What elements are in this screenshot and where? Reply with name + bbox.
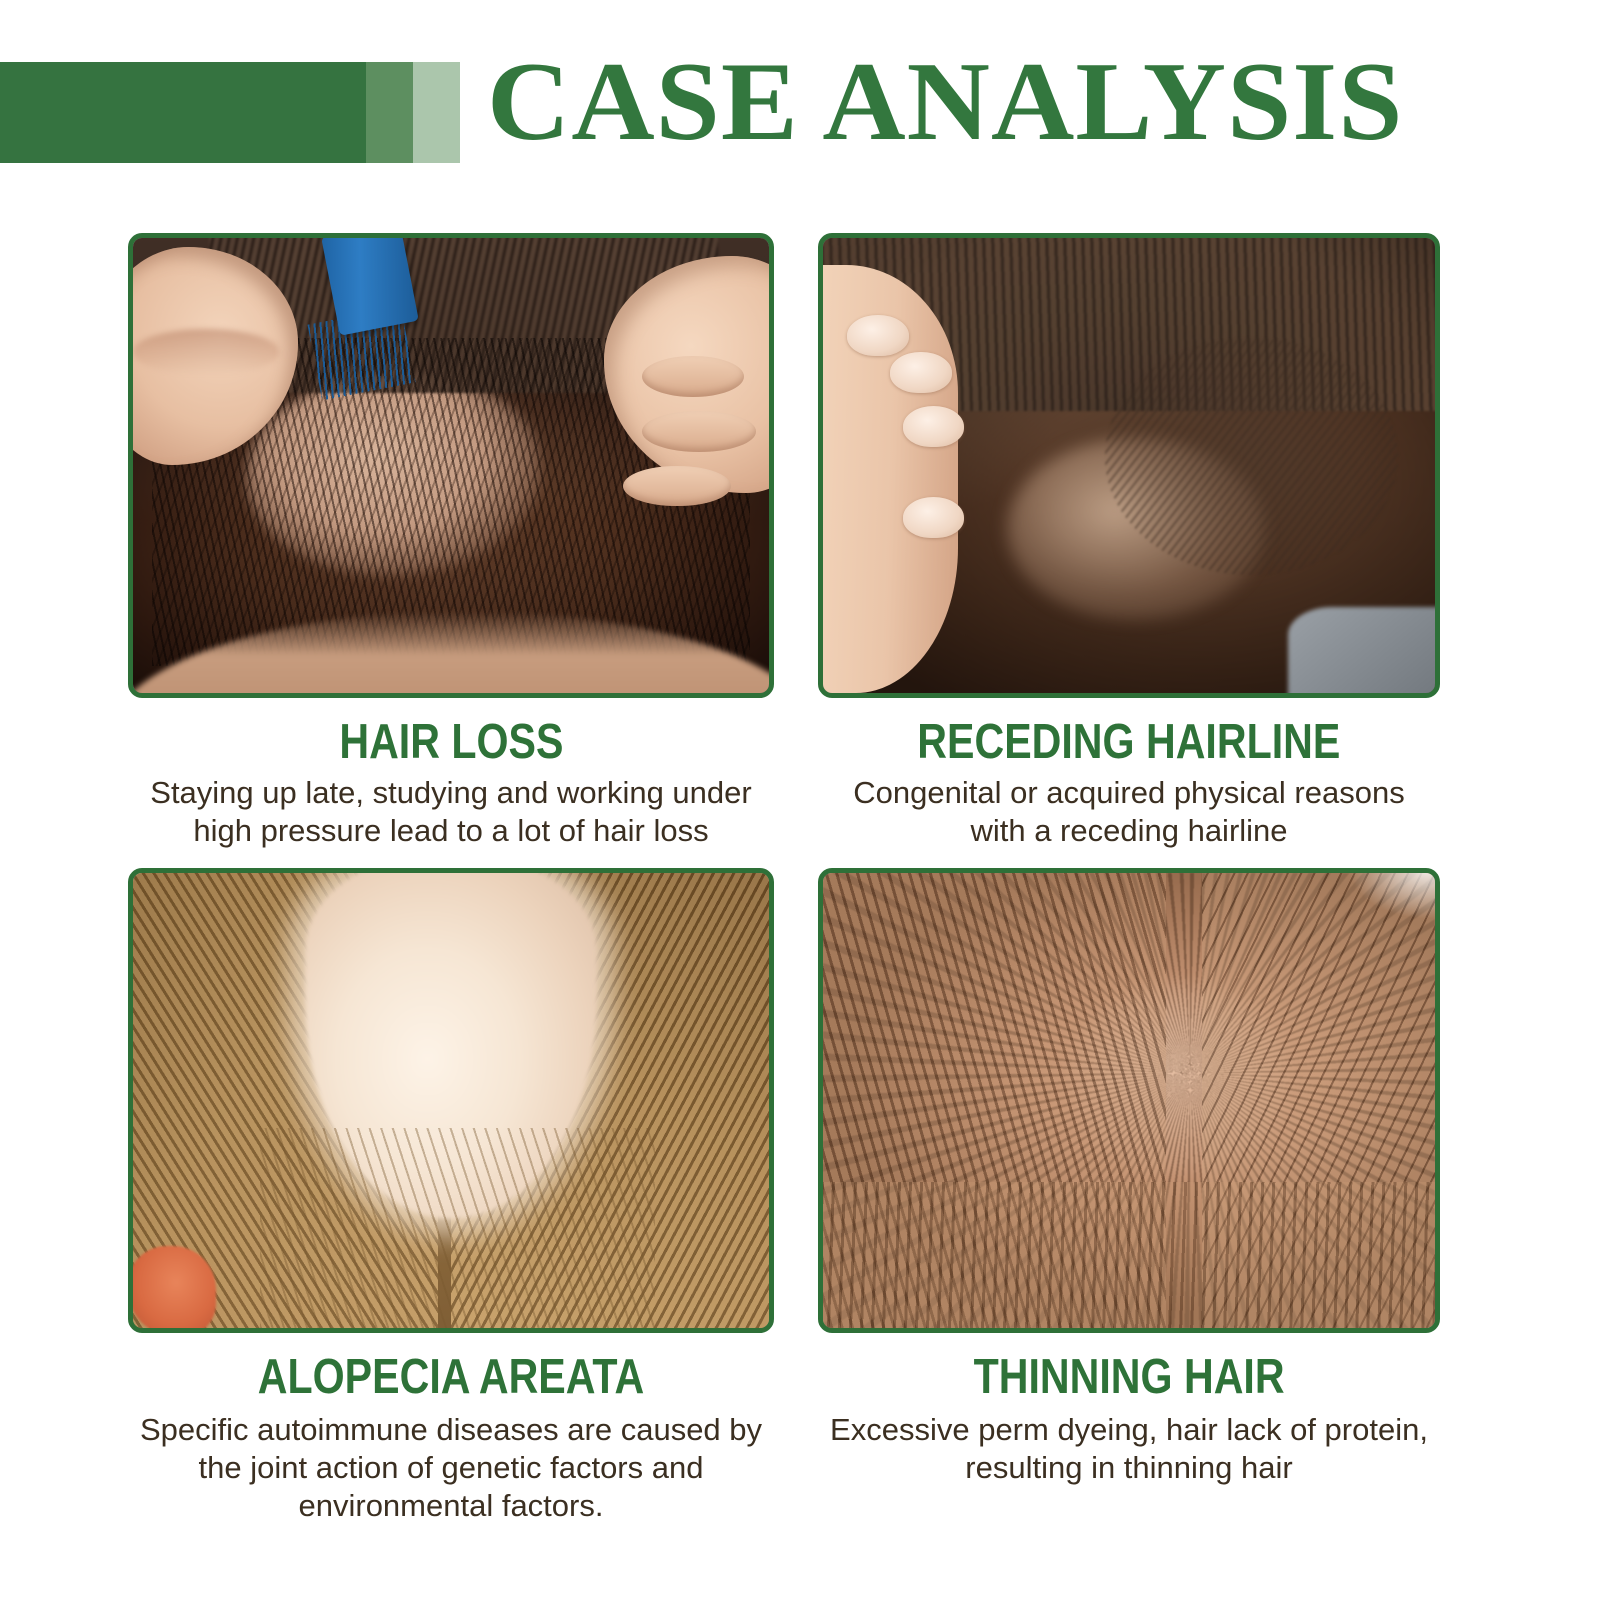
photo2-fingernail-1 [847,315,908,356]
case-heading-3: ALOPECIA AREATA [258,1349,644,1405]
case-photo-receding-hairline [823,238,1435,693]
case-photo-hair-loss [133,238,769,693]
case-description-3: Specific autoimmune diseases are caused … [128,1411,774,1525]
case-heading-1: HAIR LOSS [339,714,563,770]
photo2-shirt-collar [1288,607,1435,693]
case-card-hair-loss: HAIR LOSS Staying up late, studying and … [128,233,774,850]
case-card-receding-hairline: RECEDING HAIRLINE Congenital or acquired… [818,233,1440,850]
case-heading-4: THINNING HAIR [974,1349,1285,1405]
case-photo-frame-2 [818,233,1440,698]
case-photo-frame-3 [128,868,774,1333]
photo4-hair-bottom [823,1182,1435,1328]
page-title: CASE ANALYSIS [487,46,1476,158]
case-card-thinning-hair: THINNING HAIR Excessive perm dyeing, hai… [818,868,1440,1525]
case-photo-alopecia-areata [133,873,769,1328]
photo3-loose-strands [260,1128,654,1328]
case-photo-frame-1 [128,233,774,698]
photo1-finger-3 [623,466,731,507]
page-header: CASE ANALYSIS [0,0,1600,200]
photo2-temple-recession [1105,338,1399,575]
case-heading-2: RECEDING HAIRLINE [917,714,1340,770]
photo1-finger-2 [642,411,756,452]
photo2-fingernail-4 [903,497,964,538]
photo1-left-hand-knuckle [133,329,279,375]
case-description-2: Congenital or acquired physical reasons … [818,774,1440,850]
header-bar-segment-dark [0,62,366,163]
photo2-fingernail-3 [903,406,964,447]
case-card-alopecia-areata: ALOPECIA AREATA Specific autoimmune dise… [128,868,774,1525]
header-accent-bars [0,62,460,163]
header-bar-segment-light [413,62,460,163]
photo2-fingernail-2 [890,352,951,393]
case-photo-thinning-hair [823,873,1435,1328]
photo4-corner-highlight [1349,873,1435,919]
case-description-4: Excessive perm dyeing, hair lack of prot… [818,1411,1440,1487]
case-description-1: Staying up late, studying and working un… [128,774,774,850]
header-bar-segment-medium [366,62,413,163]
case-grid: HAIR LOSS Staying up late, studying and … [0,200,1600,1525]
case-photo-frame-4 [818,868,1440,1333]
photo3-ear [133,1246,216,1328]
photo1-finger-1 [642,356,744,397]
